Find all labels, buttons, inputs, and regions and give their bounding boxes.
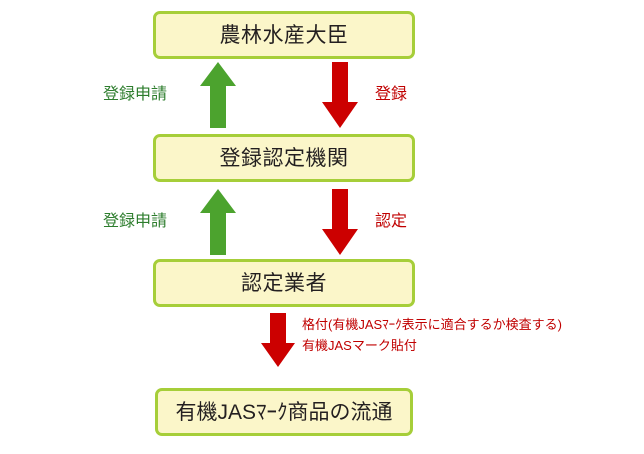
node-box-certified-operator[interactable]: 認定業者 [153, 259, 415, 307]
edge-label-apply-2: 登録申請 [103, 211, 167, 233]
edge-label-grading-line-2: 有機JASマーク貼付 [302, 335, 562, 356]
arrow-down-red-register [322, 62, 358, 128]
node-box-registered-certification-agency[interactable]: 登録認定機関 [153, 134, 415, 182]
arrow-up-green-apply-2 [200, 189, 236, 255]
edge-label-certify: 認定 [375, 211, 407, 233]
arrow-down-red-certify [322, 189, 358, 255]
node-box-minister[interactable]: 農林水産大臣 [153, 11, 415, 59]
edge-label-apply-1: 登録申請 [103, 84, 167, 106]
edge-label-register: 登録 [375, 84, 407, 106]
node-box-organic-jas-product-distribution[interactable]: 有機JASﾏｰｸ商品の流通 [155, 388, 413, 436]
arrow-up-green-apply-1 [200, 62, 236, 128]
arrow-down-red-grading [261, 313, 295, 367]
edge-label-grading: 格付(有機JASﾏｰｸ表示に適合するか検査する) 有機JASマーク貼付 [302, 314, 562, 357]
organic-jas-flow-diagram: 農林水産大臣 登録認定機関 認定業者 有機JASﾏｰｸ商品の流通 登録申請 登録… [0, 0, 644, 454]
edge-label-grading-line-1: 格付(有機JASﾏｰｸ表示に適合するか検査する) [302, 314, 562, 335]
